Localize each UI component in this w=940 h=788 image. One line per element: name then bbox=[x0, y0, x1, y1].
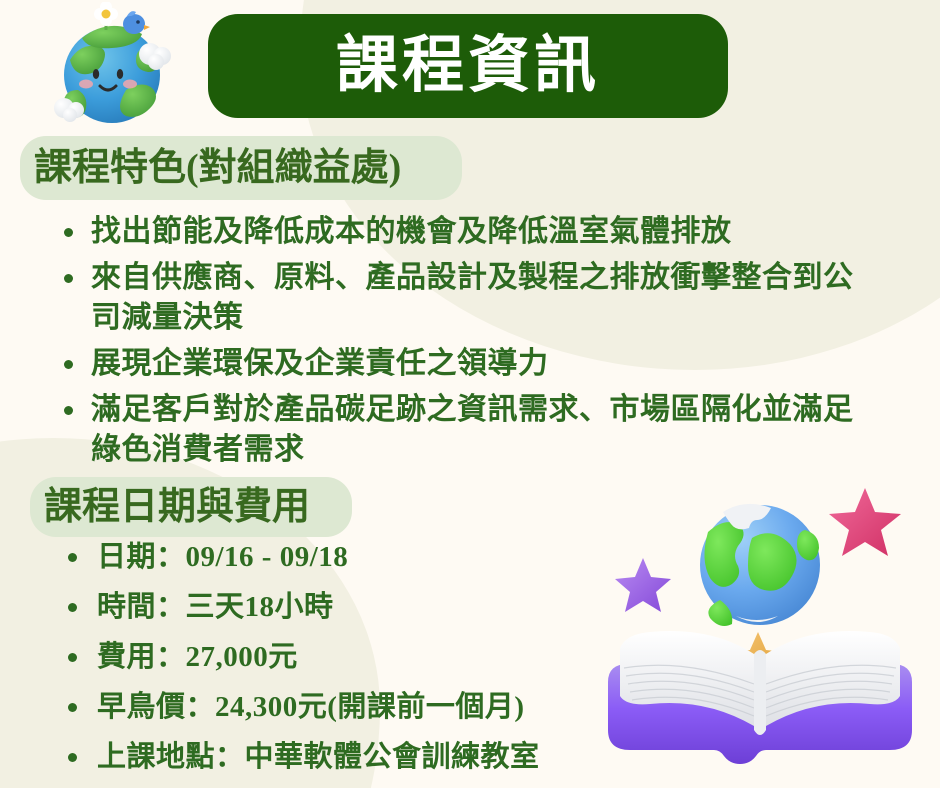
page-title: 課程資訊 bbox=[336, 35, 600, 97]
section-heading-label: 課程日期與費用 bbox=[44, 488, 310, 526]
list-item: 時間：三天18小時 bbox=[68, 588, 628, 626]
list-item: 費用：27,000元 bbox=[68, 638, 628, 676]
bullet-dot-icon bbox=[68, 753, 77, 762]
list-item-text: 滿足客戶對於產品碳足跡之資訊需求、市場區隔化並滿足綠色消費者需求 bbox=[91, 393, 854, 466]
list-item-text: 早鳥價：24,300元(開課前一個月) bbox=[97, 691, 525, 723]
section-heading-schedule-and-fee: 課程日期與費用 bbox=[30, 477, 352, 537]
course-features-list: 找出節能及降低成本的機會及降低溫室氣體排放 來自供應商、原料、產品設計及製程之排… bbox=[64, 212, 882, 476]
globe-graphic bbox=[700, 504, 820, 626]
list-item: 早鳥價：24,300元(開課前一個月) bbox=[68, 688, 628, 726]
earth-mascot-icon bbox=[48, 2, 188, 132]
section-heading-course-features: 課程特色(對組織益處) bbox=[20, 136, 462, 200]
list-item: 滿足客戶對於產品碳足跡之資訊需求、市場區隔化並滿足綠色消費者需求 bbox=[64, 390, 882, 470]
pink-star-icon bbox=[829, 488, 901, 556]
bullet-dot-icon bbox=[68, 653, 77, 662]
schedule-and-fee-list: 日期：09/16 - 09/18 時間：三天18小時 費用：27,000元 早鳥… bbox=[68, 538, 628, 788]
list-item-text: 來自供應商、原料、產品設計及製程之排放衝擊整合到公司減量決策 bbox=[91, 261, 854, 334]
list-item: 日期：09/16 - 09/18 bbox=[68, 538, 628, 576]
list-item-text: 費用：27,000元 bbox=[97, 641, 298, 673]
list-item-text: 上課地點：中華軟體公會訓練教室 bbox=[97, 741, 540, 773]
orange-star-icon bbox=[731, 632, 785, 684]
page-title-banner: 課程資訊 bbox=[208, 14, 728, 118]
bullet-dot-icon bbox=[64, 360, 73, 369]
list-item: 來自供應商、原料、產品設計及製程之排放衝擊整合到公司減量決策 bbox=[64, 258, 882, 338]
list-item-text: 展現企業環保及企業責任之領導力 bbox=[91, 347, 549, 380]
list-item: 展現企業環保及企業責任之領導力 bbox=[64, 344, 882, 384]
list-item: 上課地點：中華軟體公會訓練教室 bbox=[68, 738, 628, 776]
list-item-text: 找出節能及降低成本的機會及降低溫室氣體排放 bbox=[91, 215, 732, 248]
bullet-dot-icon bbox=[68, 603, 77, 612]
poster-canvas: 課程資訊 課程特色(對組織益處) 找出節能及降低成本的機會及降低溫室氣體排放 來… bbox=[0, 0, 940, 788]
list-item-text: 日期：09/16 - 09/18 bbox=[97, 541, 348, 573]
bullet-dot-icon bbox=[64, 406, 73, 415]
bullet-dot-icon bbox=[64, 228, 73, 237]
open-book-with-globe-icon bbox=[580, 460, 940, 788]
list-item-text: 時間：三天18小時 bbox=[97, 591, 334, 623]
bullet-dot-icon bbox=[68, 553, 77, 562]
section-heading-label: 課程特色(對組織益處) bbox=[34, 149, 401, 187]
bullet-dot-icon bbox=[64, 274, 73, 283]
bullet-dot-icon bbox=[68, 703, 77, 712]
list-item: 找出節能及降低成本的機會及降低溫室氣體排放 bbox=[64, 212, 882, 252]
